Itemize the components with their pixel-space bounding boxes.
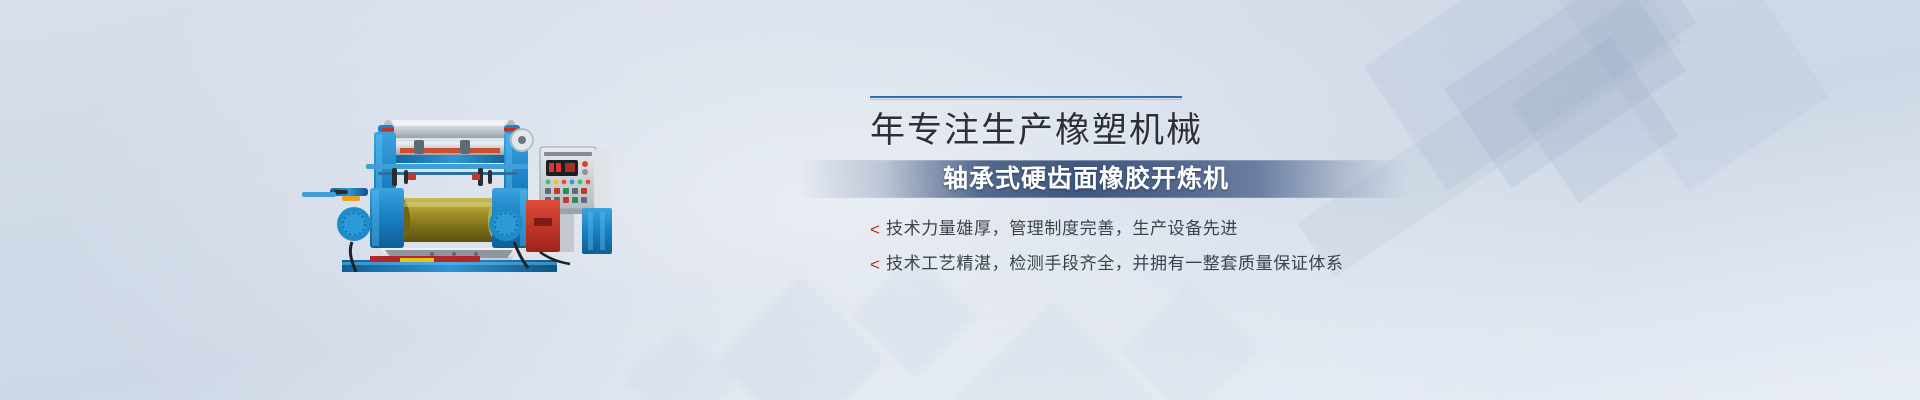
deco-block-4 (1521, 0, 1830, 192)
product-image-rubber-mixing-mill (282, 92, 612, 272)
chevron-left-icon: < (870, 254, 886, 276)
deco-block-5 (1512, 37, 1679, 204)
feature-bullet-list: < 技术力量雄厚，管理制度完善，生产设备先进 < 技术工艺精湛，检测手段齐全，并… (870, 218, 1506, 275)
chevron-left-icon: < (870, 219, 886, 241)
list-item: < 技术工艺精湛，检测手段齐全，并拥有一整套质量保证体系 (870, 253, 1506, 275)
rule-secondary-line (870, 99, 1182, 100)
deco-diamond-3 (949, 299, 1161, 400)
bullet-text: 技术工艺精湛，检测手段齐全，并拥有一整套质量保证体系 (886, 253, 1344, 275)
subtitle-bar: 轴承式硬齿面橡胶开炼机 (798, 160, 1406, 198)
title-divider-rule (870, 96, 1182, 99)
deco-diamond-1 (715, 275, 885, 400)
bullet-text: 技术力量雄厚，管理制度完善，生产设备先进 (886, 218, 1238, 240)
product-subtitle: 轴承式硬齿面橡胶开炼机 (943, 160, 1229, 198)
page-title: 年专注生产橡塑机械 (870, 109, 1506, 153)
rubber-mixing-mill-illustration (282, 92, 612, 272)
banner-content: 年专注生产橡塑机械 轴承式硬齿面橡胶开炼机 < 技术力量雄厚，管理制度完善，生产… (866, 96, 1506, 288)
deco-diamond-4 (1119, 279, 1260, 400)
promo-banner: 年专注生产橡塑机械 轴承式硬齿面橡胶开炼机 < 技术力量雄厚，管理制度完善，生产… (0, 0, 1920, 400)
list-item: < 技术力量雄厚，管理制度完善，生产设备先进 (870, 218, 1506, 240)
rule-accent-line (870, 96, 1182, 98)
deco-diamond-5 (623, 323, 736, 400)
